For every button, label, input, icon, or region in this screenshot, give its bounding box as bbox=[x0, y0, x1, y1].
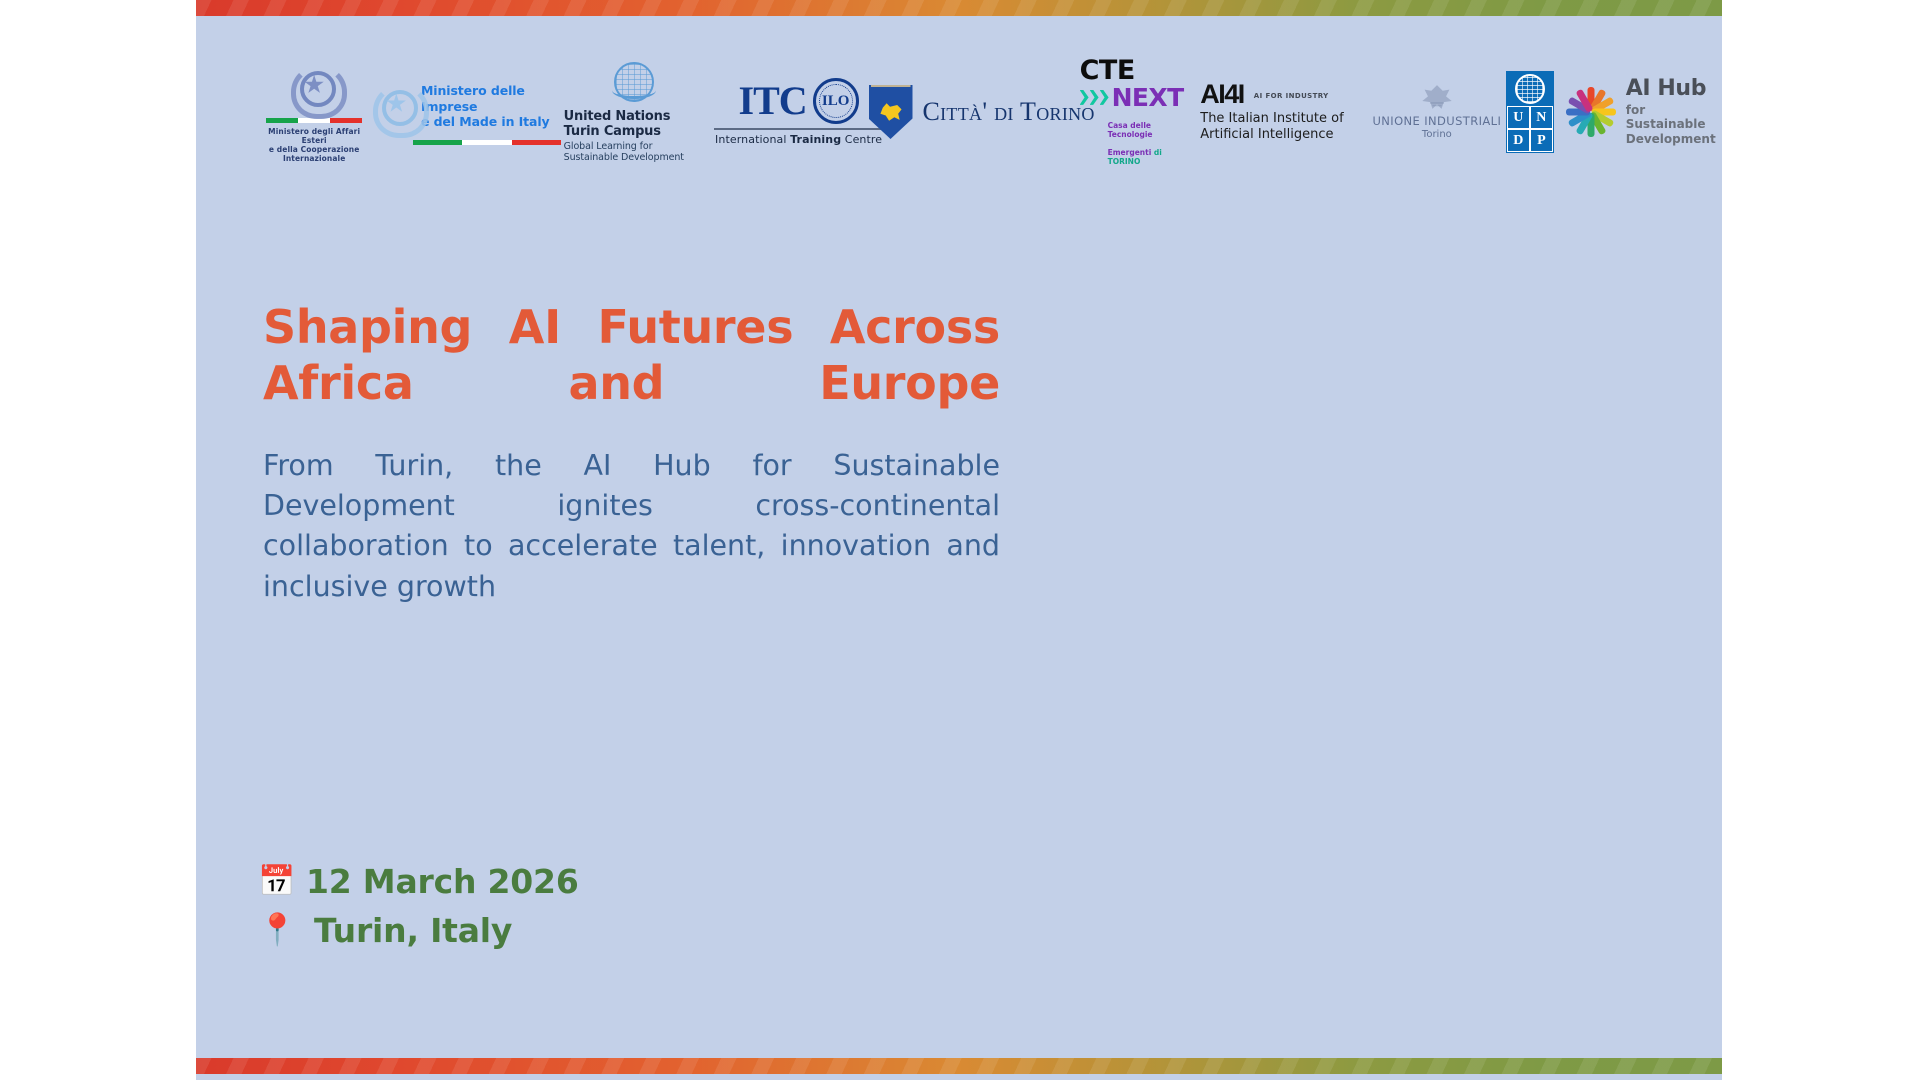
cte-sub-line2-pre: Emergenti bbox=[1108, 148, 1154, 157]
logo-cte-top: CTE bbox=[1080, 58, 1135, 84]
logo-untc-title: United Nations Turin Campus bbox=[564, 109, 704, 139]
logo-itc-ilo: ITC ILO International Training Centre bbox=[714, 78, 884, 146]
ai-hub-pinwheel-icon bbox=[1565, 85, 1615, 139]
logo-mae-caption: Ministero degli Affari Esteri e della Co… bbox=[258, 127, 370, 164]
page-title: Shaping AI Futures Across Africa and Eur… bbox=[263, 299, 1000, 411]
partner-logo-strip: Ministero degli Affari Esteri e della Co… bbox=[196, 58, 1722, 166]
logo-undp: U N D P bbox=[1502, 71, 1557, 153]
event-location-row: 📍 Turin, Italy bbox=[258, 911, 579, 950]
logo-ai4i-fullname: The Italian Institute of Artificial Inte… bbox=[1200, 111, 1343, 142]
itc-sub-bold: Training bbox=[790, 133, 841, 146]
top-accent-bar bbox=[196, 0, 1722, 16]
logo-ilo-text: ILO bbox=[822, 93, 850, 110]
page-subtitle: From Turin, the AI Hub for Sustainable D… bbox=[263, 446, 1000, 608]
logo-ai-hub-sustainable-development: AI Hub for Sustainable Development bbox=[1565, 78, 1722, 145]
logo-itc-mark: ITC bbox=[739, 81, 807, 121]
logo-unione-name: UNIONE INDUSTRIALI bbox=[1372, 114, 1501, 128]
logo-ai4i: AI4I AI FOR INDUSTRY The Italian Institu… bbox=[1200, 81, 1371, 142]
logo-unione-city: Torino bbox=[1422, 129, 1452, 140]
italian-flag-rule-icon bbox=[413, 140, 561, 145]
torino-shield-icon bbox=[869, 85, 913, 139]
undp-letter-u: U bbox=[1507, 106, 1530, 129]
slide-canvas: Ministero degli Affari Esteri e della Co… bbox=[0, 0, 1920, 1080]
event-date: 12 March 2026 bbox=[306, 862, 579, 901]
calendar-icon: 📅 bbox=[258, 867, 292, 897]
undp-letter-n: N bbox=[1530, 106, 1553, 129]
un-globe-icon bbox=[614, 62, 654, 102]
chevron-right-icon bbox=[1080, 90, 1109, 105]
logo-aihub-title: AI Hub bbox=[1626, 76, 1706, 101]
logo-itc-subtitle: International Training Centre bbox=[715, 133, 882, 146]
logo-citta-di-torino: Città' di Torino bbox=[884, 85, 1080, 139]
logo-ai4i-mark: AI4I bbox=[1200, 81, 1244, 108]
undp-emblem-icon: U N D P bbox=[1506, 71, 1554, 153]
logo-ai4i-tagline: AI FOR INDUSTRY bbox=[1254, 92, 1329, 100]
cte-sub-line1: Casa delle Tecnologie bbox=[1108, 121, 1153, 139]
undp-letter-p: P bbox=[1530, 129, 1553, 152]
left-gutter bbox=[0, 0, 196, 1080]
logo-unione-industriali-torino: UNIONE INDUSTRIALI Torino bbox=[1372, 84, 1503, 140]
logo-cte-next: CTE NEXT Casa delle Tecnologie Emergenti… bbox=[1080, 58, 1189, 166]
logo-mimit-text: Ministero delle Imprese e del Made in It… bbox=[421, 83, 564, 130]
event-details: 📅 12 March 2026 📍 Turin, Italy bbox=[258, 862, 579, 960]
logo-untc-tagline: Global Learning for Sustainable Developm… bbox=[564, 141, 704, 163]
logo-ministero-affari-esteri: Ministero degli Affari Esteri e della Co… bbox=[258, 61, 370, 164]
ilo-emblem-icon: ILO bbox=[813, 78, 859, 124]
logo-itc-divider bbox=[714, 128, 884, 130]
event-date-row: 📅 12 March 2026 bbox=[258, 862, 579, 901]
italian-republic-emblem-icon bbox=[370, 80, 412, 134]
location-pin-icon: 📍 bbox=[258, 915, 292, 946]
undp-letter-d: D bbox=[1507, 129, 1530, 152]
unione-industriali-emblem-icon bbox=[1420, 84, 1454, 110]
italian-republic-emblem-icon bbox=[288, 61, 340, 113]
itc-sub-pre: International bbox=[715, 133, 790, 146]
right-gutter bbox=[1722, 0, 1920, 1080]
logo-cte-next-word: NEXT bbox=[1112, 85, 1184, 110]
logo-aihub-subtitle: for Sustainable Development bbox=[1626, 103, 1722, 145]
logo-ministero-imprese-made-in-italy: Ministero delle Imprese e del Made in It… bbox=[370, 80, 563, 145]
logo-cte-subtitle: Casa delle Tecnologie Emergenti di TORIN… bbox=[1108, 112, 1189, 166]
event-location: Turin, Italy bbox=[314, 911, 512, 950]
logo-united-nations-turin-campus: United Nations Turin Campus Global Learn… bbox=[564, 62, 704, 163]
logo-torino-text: Città' di Torino bbox=[923, 97, 1095, 127]
bottom-accent-bar bbox=[196, 1058, 1722, 1074]
